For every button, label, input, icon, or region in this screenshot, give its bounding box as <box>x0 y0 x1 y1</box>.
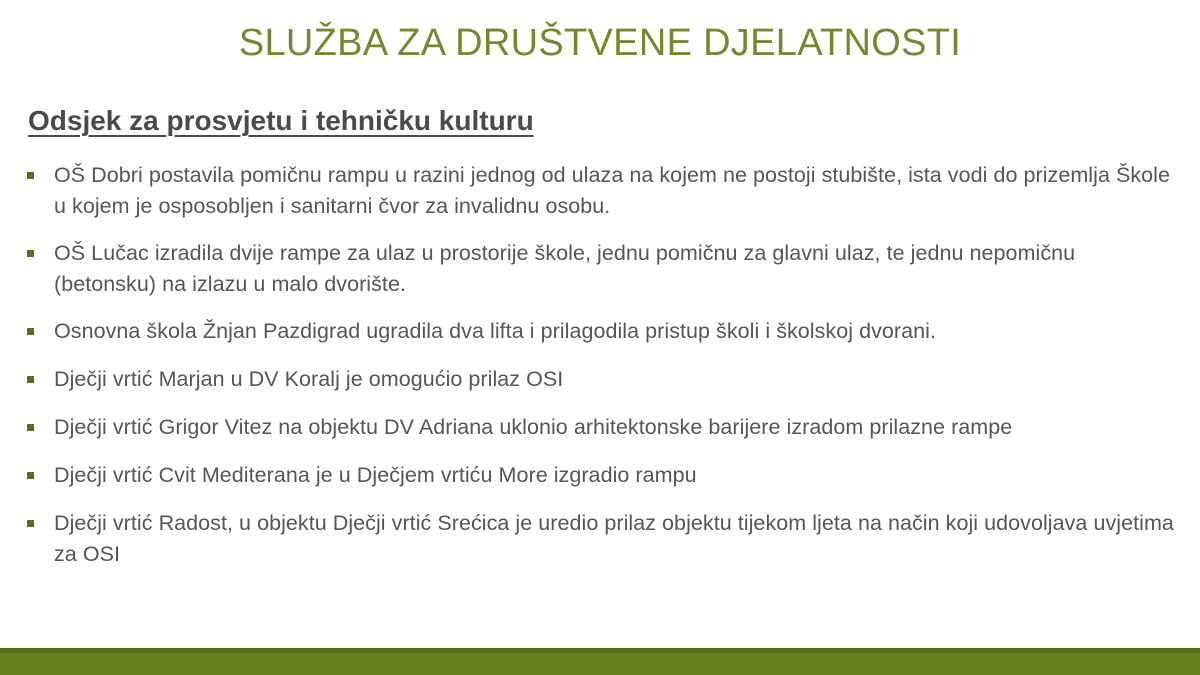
list-item-text: Osnovna škola Žnjan Pazdigrad ugradila d… <box>54 316 1182 347</box>
list-item-text: Dječji vrtić Cvit Mediterana je u Dječje… <box>54 460 1182 491</box>
footer-band-main-stripe <box>0 653 1200 675</box>
list-item: OŠ Dobri postavila pomičnu rampu u razin… <box>22 160 1182 222</box>
bullet-square-icon <box>27 172 34 179</box>
bullet-square-icon <box>27 424 34 431</box>
slide-canvas: SLUŽBA ZA DRUŠTVENE DJELATNOSTI Odsjek z… <box>0 0 1200 675</box>
list-item-text: OŠ Lučac izradila dvije rampe za ulaz u … <box>54 238 1182 300</box>
list-item: Osnovna škola Žnjan Pazdigrad ugradila d… <box>22 316 1182 347</box>
page-title: SLUŽBA ZA DRUŠTVENE DJELATNOSTI <box>0 20 1200 66</box>
list-item-text: OŠ Dobri postavila pomičnu rampu u razin… <box>54 160 1182 222</box>
list-item: Dječji vrtić Marjan u DV Koralj je omogu… <box>22 364 1182 395</box>
list-item-text: Dječji vrtić Radost, u objektu Dječji vr… <box>54 508 1182 570</box>
list-item-text: Dječji vrtić Grigor Vitez na objektu DV … <box>54 412 1182 443</box>
bullet-square-icon <box>27 472 34 479</box>
list-item-text: Dječji vrtić Marjan u DV Koralj je omogu… <box>54 364 1182 395</box>
list-item: Dječji vrtić Radost, u objektu Dječji vr… <box>22 508 1182 570</box>
bullet-square-icon <box>27 250 34 257</box>
section-subtitle: Odsjek za prosvjetu i tehničku kulturu <box>28 103 534 139</box>
bullet-square-icon <box>27 328 34 335</box>
bullet-square-icon <box>27 520 34 527</box>
footer-decorative-band <box>0 648 1200 675</box>
bullet-square-icon <box>27 376 34 383</box>
list-item: Dječji vrtić Grigor Vitez na objektu DV … <box>22 412 1182 443</box>
list-item: OŠ Lučac izradila dvije rampe za ulaz u … <box>22 238 1182 300</box>
list-item: Dječji vrtić Cvit Mediterana je u Dječje… <box>22 460 1182 491</box>
bullet-list: OŠ Dobri postavila pomičnu rampu u razin… <box>22 160 1182 586</box>
